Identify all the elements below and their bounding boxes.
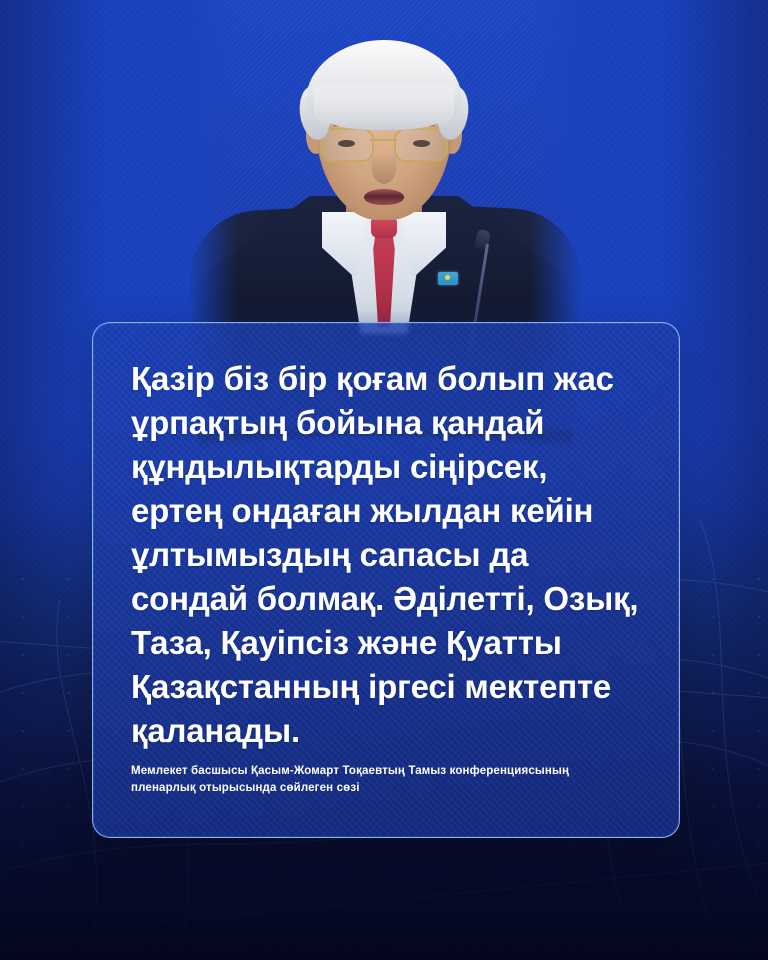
quote-poster: Қазір біз бір қоғам болып жас ұрпақтың б… [0, 0, 768, 960]
quote-text: Қазір біз бір қоғам болып жас ұрпақтың б… [131, 357, 641, 753]
quote-attribution: Мемлекет басшысы Қасым-Жомарт Тоқаевтың … [131, 763, 633, 797]
quote-card: Қазір біз бір қоғам болып жас ұрпақтың б… [92, 322, 680, 838]
quote-card-content: Қазір біз бір қоғам болып жас ұрпақтың б… [93, 323, 679, 753]
